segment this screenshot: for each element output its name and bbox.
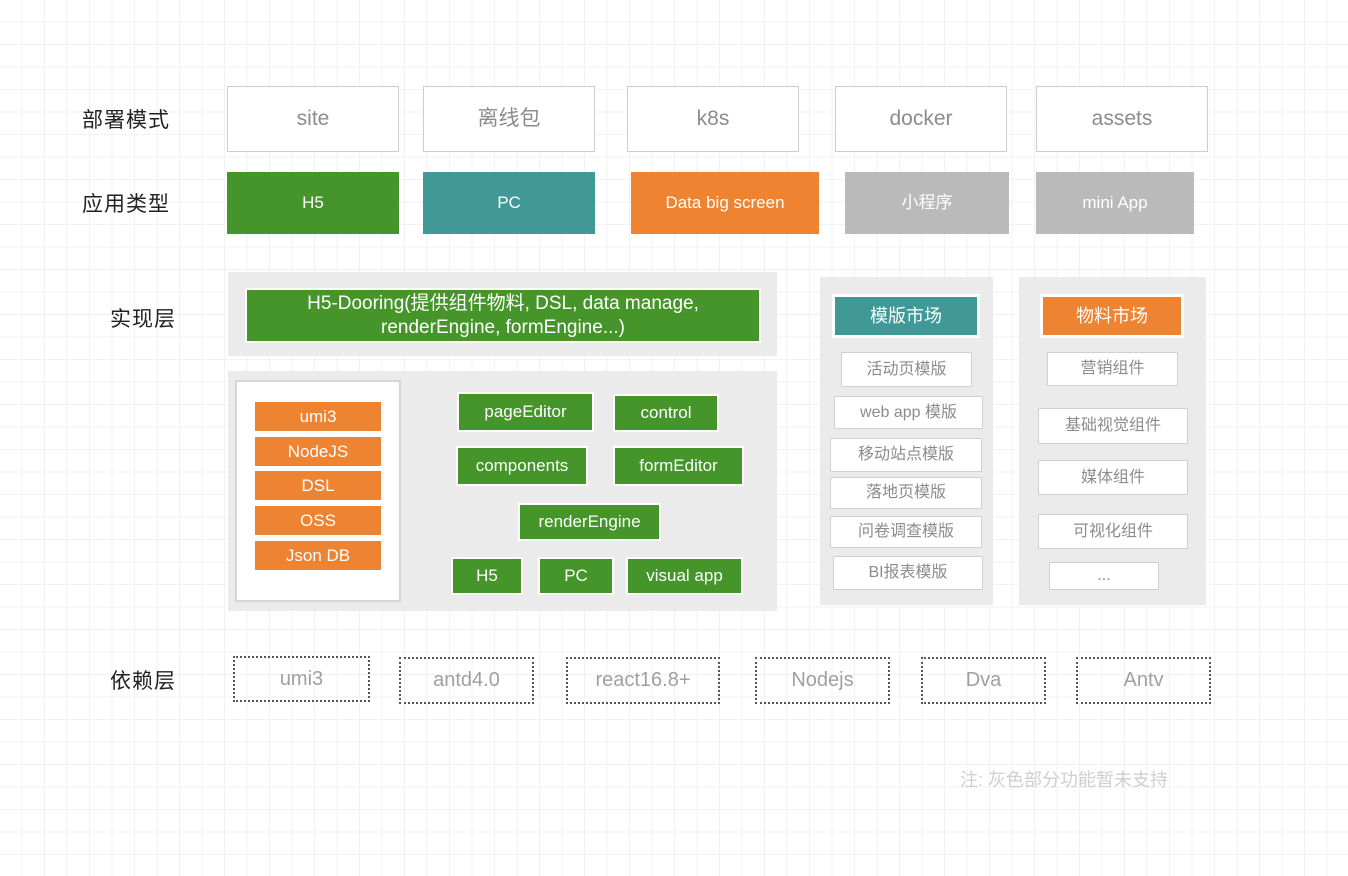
dependency-box-react[interactable]: react16.8+ [566,657,720,704]
template-market-item-mobile-site[interactable]: 移动站点模版 [830,438,982,472]
material-market-item-media[interactable]: 媒体组件 [1038,460,1188,495]
footer-note: 注: 灰色部分功能暂未支持 [960,766,1260,796]
apptype-box-h5[interactable]: H5 [227,172,399,234]
material-market-item-basic-visual[interactable]: 基础视觉组件 [1038,408,1188,444]
template-market-item-activity-page[interactable]: 活动页模版 [841,352,972,387]
material-market-item-marketing[interactable]: 营销组件 [1047,352,1178,386]
module-page-editor[interactable]: pageEditor [457,392,594,432]
stack-item-nodejs[interactable]: NodeJS [254,436,382,467]
material-market-item-visualization[interactable]: 可视化组件 [1038,514,1188,549]
deploy-box-assets[interactable]: assets [1036,86,1208,152]
material-market-item-more[interactable]: ... [1049,562,1159,590]
template-market-item-questionnaire[interactable]: 问卷调查模版 [830,516,982,548]
architecture-diagram: 部署模式 site 离线包 k8s docker assets 应用类型 H5 … [0,0,1348,876]
apptype-box-pc[interactable]: PC [423,172,595,234]
dependency-box-dva[interactable]: Dva [921,657,1046,704]
deploy-box-offline-package[interactable]: 离线包 [423,86,595,152]
template-market-heading[interactable]: 模版市场 [832,294,980,338]
row-label-deploy-mode: 部署模式 [82,98,232,140]
deploy-box-docker[interactable]: docker [835,86,1007,152]
row-label-app-type: 应用类型 [82,182,232,224]
stack-item-umi3[interactable]: umi3 [254,401,382,432]
deploy-box-k8s[interactable]: k8s [627,86,799,152]
dependency-box-nodejs[interactable]: Nodejs [755,657,890,704]
core-banner-h5-dooring[interactable]: H5-Dooring(提供组件物料, DSL, data manage, ren… [245,288,761,343]
template-market-item-landing-page[interactable]: 落地页模版 [830,477,982,509]
module-form-editor[interactable]: formEditor [613,446,744,486]
apptype-box-data-big-screen[interactable]: Data big screen [631,172,819,234]
module-render-engine[interactable]: renderEngine [518,503,661,541]
material-market-heading[interactable]: 物料市场 [1040,294,1184,338]
stack-item-json-db[interactable]: Json DB [254,540,382,571]
apptype-box-mini-app[interactable]: mini App [1036,172,1194,234]
module-h5[interactable]: H5 [451,557,523,595]
template-market-item-web-app[interactable]: web app 模版 [834,396,983,429]
module-control[interactable]: control [613,394,719,432]
module-components[interactable]: components [456,446,588,486]
apptype-box-mini-program[interactable]: 小程序 [845,172,1009,234]
dependency-box-antd[interactable]: antd4.0 [399,657,534,704]
module-pc[interactable]: PC [538,557,614,595]
dependency-box-antv[interactable]: Antv [1076,657,1211,704]
stack-item-dsl[interactable]: DSL [254,470,382,501]
template-market-item-bi-report[interactable]: BI报表模版 [833,556,983,590]
stack-item-oss[interactable]: OSS [254,505,382,536]
module-visual-app[interactable]: visual app [626,557,743,595]
dependency-box-umi3[interactable]: umi3 [233,656,370,702]
deploy-box-site[interactable]: site [227,86,399,152]
